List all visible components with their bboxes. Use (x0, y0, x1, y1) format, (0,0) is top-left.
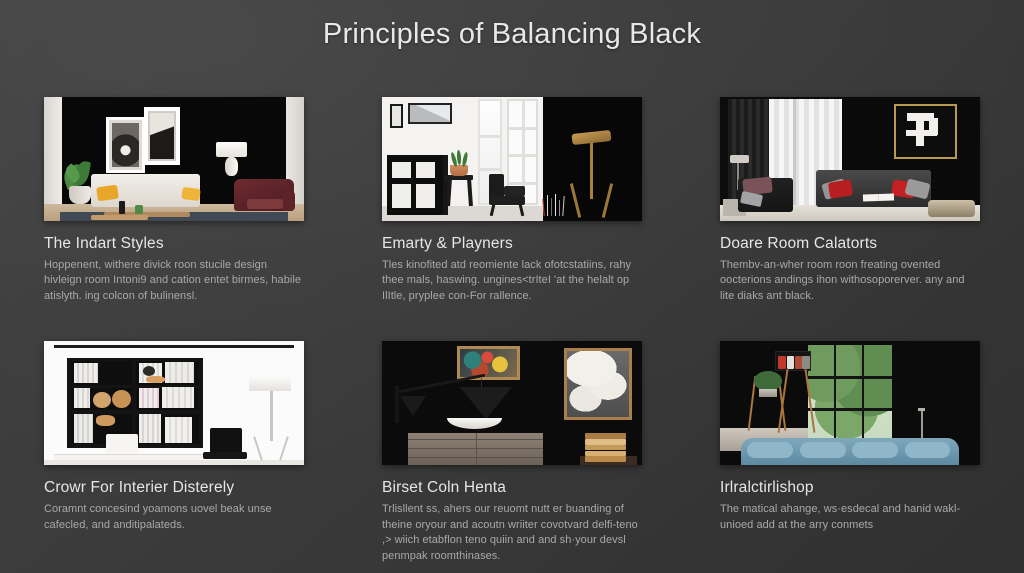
content-card[interactable]: Emarty & Playners Tles kinofited atd reo… (382, 97, 642, 304)
card-title: Doare Room Calatorts (720, 235, 980, 254)
dark-room-red-pillows-image (720, 97, 980, 221)
content-card[interactable]: Irlralctirlishop The matical ahange, ws·… (720, 341, 980, 564)
card-title: Irlralctirlishop (720, 479, 980, 498)
card-title: Emarty & Playners (382, 235, 642, 254)
card-title: The Indart Styles (44, 235, 304, 254)
card-thumbnail (720, 341, 980, 465)
black-wall-sideboard-art-image (382, 341, 642, 465)
white-room-black-cabinet-image (382, 97, 642, 221)
content-card[interactable]: Crowr For Interier Disterely Coramnt con… (44, 341, 304, 564)
card-grid: The Indart Styles Hoppenent, withere div… (44, 97, 980, 552)
card-body: Thembv-an-wher room roon freating ovente… (720, 258, 980, 305)
content-card[interactable]: The Indart Styles Hoppenent, withere div… (44, 97, 304, 304)
card-thumbnail (382, 341, 642, 465)
living-room-black-accent-wall-image (44, 97, 304, 221)
content-card[interactable]: Doare Room Calatorts Thembv-an-wher room… (720, 97, 980, 304)
card-thumbnail (382, 97, 642, 221)
window-greenery-blue-sofa-image (720, 341, 980, 465)
black-bookshelf-office-image (44, 341, 304, 465)
page-title: Principles of Balancing Black (0, 18, 1024, 51)
card-body: Tles kinofited atd reomiente lack ofotcs… (382, 258, 642, 305)
card-thumbnail (720, 97, 980, 221)
card-thumbnail (44, 97, 304, 221)
content-card[interactable]: Birset Coln Henta Trlisllent ss, ahers o… (382, 341, 642, 564)
card-body: Trlisllent ss, ahers our reuomt nutt er … (382, 502, 642, 564)
slide-root: Principles of Balancing Black (0, 0, 1024, 573)
card-thumbnail (44, 341, 304, 465)
card-body: Hoppenent, withere divick roon stucile d… (44, 258, 304, 305)
card-title: Birset Coln Henta (382, 479, 642, 498)
card-body: Coramnt concesind yoamons uovel beak uns… (44, 502, 304, 533)
card-body: The matical ahange, ws·esdecal and hanid… (720, 502, 980, 533)
card-title: Crowr For Interier Disterely (44, 479, 304, 498)
